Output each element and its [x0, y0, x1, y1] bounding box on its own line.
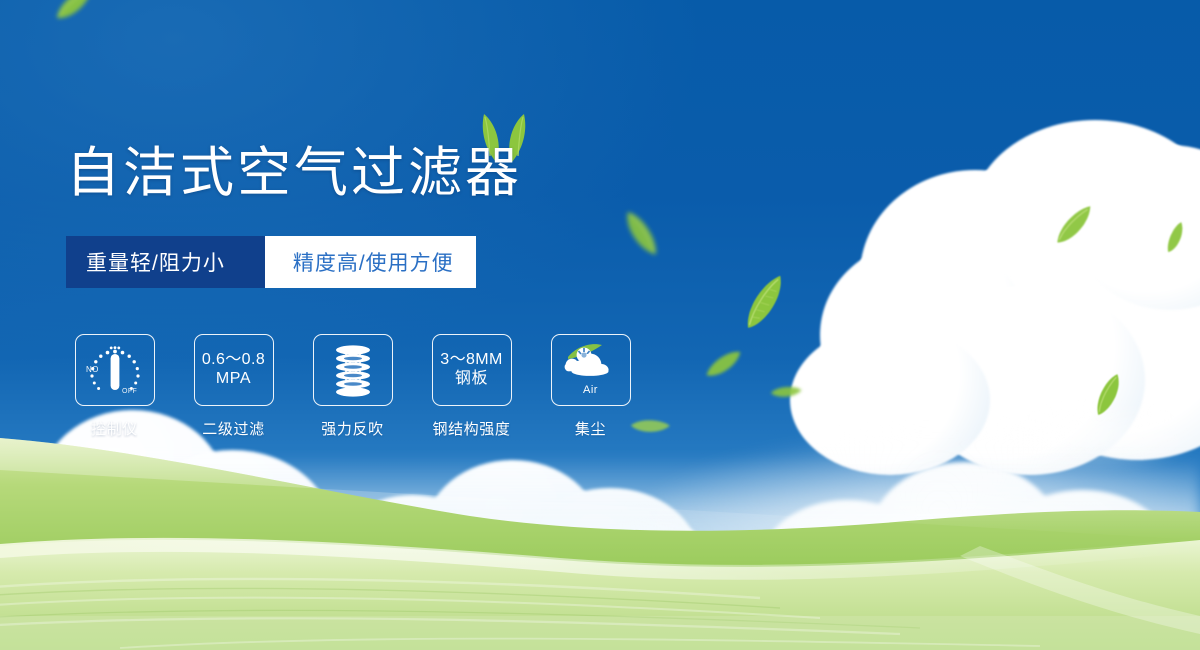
feature-item[interactable]: 0.6～0.8 MPA 二级过滤	[185, 334, 282, 439]
feature-box-line2: Air	[583, 384, 598, 397]
feature-box-line1: 3～8MM	[440, 351, 502, 370]
pressure-text-icon: 0.6～0.8 MPA	[194, 334, 274, 406]
tagline-right: 精度高/使用方便	[265, 236, 476, 288]
feature-label: 控制仪	[91, 418, 138, 439]
tagline-left: 重量轻/阻力小	[66, 236, 265, 288]
tagline-bar: 重量轻/阻力小 精度高/使用方便	[66, 236, 476, 288]
feature-box-line2: 钢板	[455, 370, 488, 389]
feature-box-line1: 0.6～0.8	[202, 351, 265, 370]
feature-list: NO OFF 控制仪 0.6～0.8 MPA 二级过滤	[66, 334, 639, 439]
feature-item[interactable]: NO OFF 控制仪	[66, 334, 163, 439]
filter-cartridge-icon	[313, 334, 393, 406]
svg-text:NO: NO	[86, 365, 99, 374]
feature-label: 集尘	[575, 418, 606, 439]
steel-plate-text-icon: 3～8MM 钢板	[432, 334, 512, 406]
feature-box-line2: MPA	[216, 370, 251, 389]
feature-label: 强力反吹	[321, 418, 383, 439]
page-title: 自洁式空气过滤器	[66, 143, 522, 203]
gauge-icon: NO OFF	[75, 334, 155, 406]
product-banner: 自洁式空气过滤器 重量轻/阻力小 精度高/使用方便	[0, 0, 1200, 650]
feature-item[interactable]: 3～8MM 钢板 钢结构强度	[423, 334, 520, 439]
banner-content: 自洁式空气过滤器 重量轻/阻力小 精度高/使用方便	[0, 0, 1200, 650]
cloud-air-icon: Air	[551, 334, 631, 406]
svg-text:OFF: OFF	[122, 388, 137, 395]
feature-label: 钢结构强度	[432, 418, 510, 439]
feature-item[interactable]: 强力反吹	[304, 334, 401, 439]
feature-label: 二级过滤	[202, 418, 264, 439]
feature-item[interactable]: Air 集尘	[542, 334, 639, 439]
